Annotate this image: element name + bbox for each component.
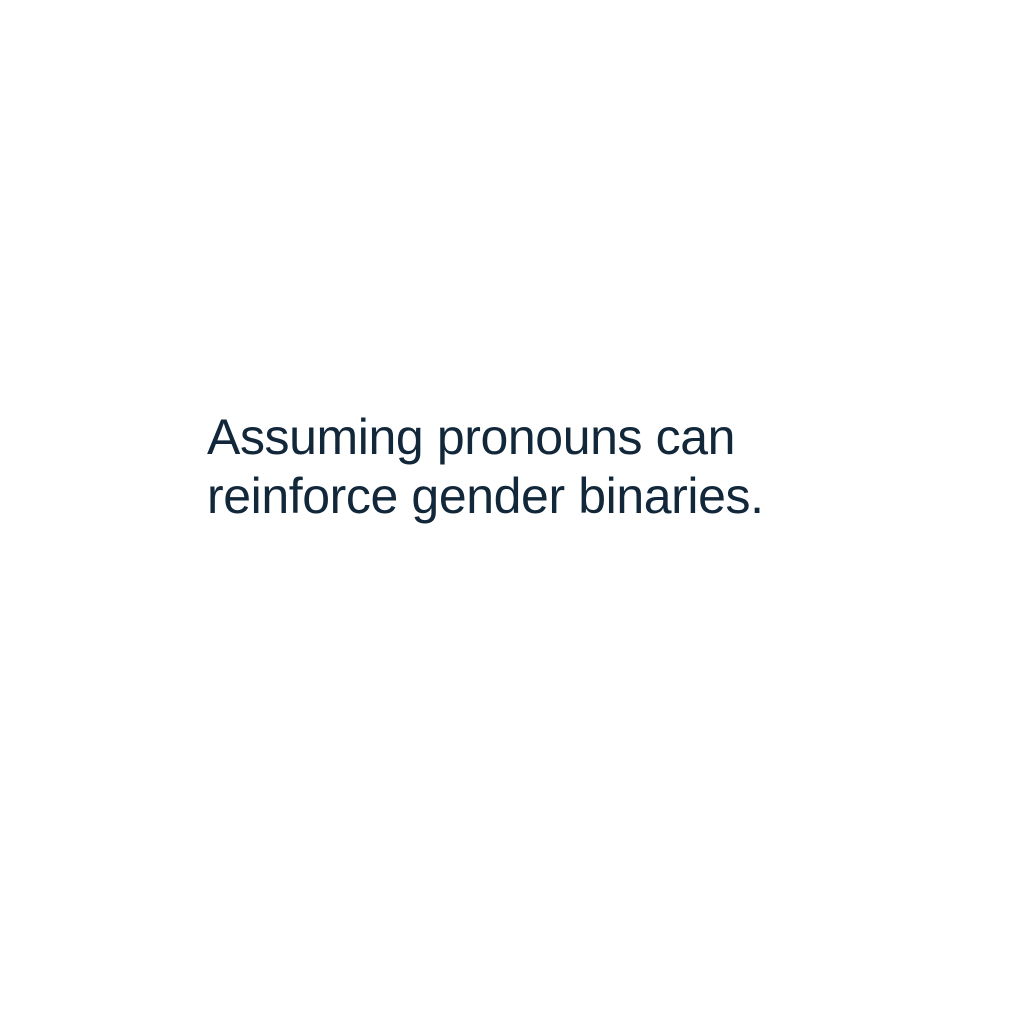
quote-line-2: reinforce gender binaries. xyxy=(207,467,887,526)
quote-text-block: Assuming pronouns can reinforce gender b… xyxy=(207,408,887,526)
quote-line-1: Assuming pronouns can xyxy=(207,408,887,467)
quote-card: Assuming pronouns can reinforce gender b… xyxy=(0,0,1024,1024)
